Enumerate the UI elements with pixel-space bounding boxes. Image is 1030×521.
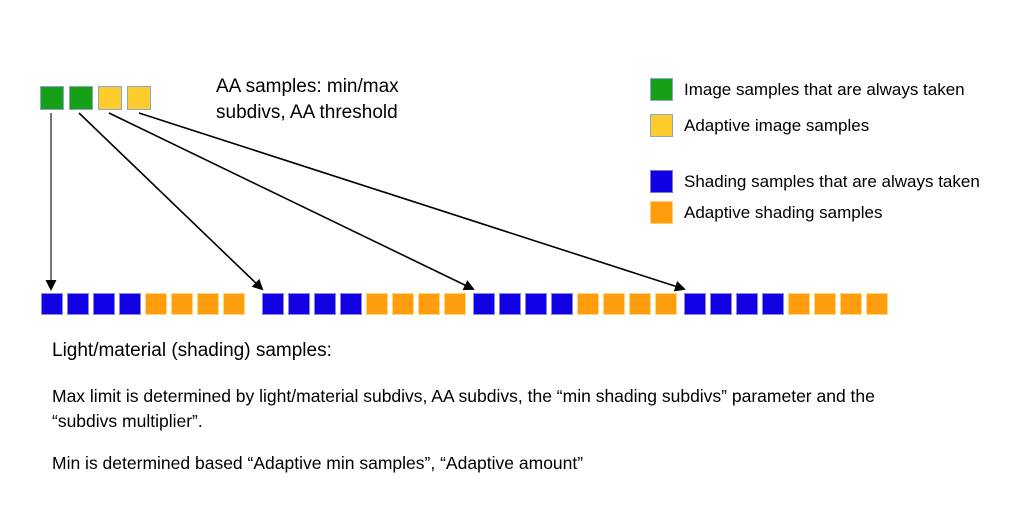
- shading-sample-square: [499, 293, 521, 315]
- shading-sample-square: [655, 293, 677, 315]
- image-sample-square-1: [40, 86, 64, 110]
- shading-sample-square: [762, 293, 784, 315]
- legend-label-image-always: Image samples that are always taken: [684, 78, 965, 101]
- legend-swatch-image-adaptive: [650, 114, 673, 137]
- legend-label-shading-always: Shading samples that are always taken: [684, 170, 980, 193]
- shading-sample-square: [710, 293, 732, 315]
- arrow-square2-to-group2: [79, 113, 262, 289]
- shading-sample-square: [145, 293, 167, 315]
- shading-sample-square: [418, 293, 440, 315]
- diagram-canvas: AA samples: min/max subdivs, AA threshol…: [0, 0, 1030, 521]
- image-sample-square-2: [69, 86, 93, 110]
- shading-sample-square: [392, 293, 414, 315]
- shading-sample-square: [866, 293, 888, 315]
- shading-sample-square: [197, 293, 219, 315]
- shading-sample-square: [473, 293, 495, 315]
- arrow-square4-to-group4: [139, 113, 684, 289]
- legend-swatch-shading-always: [650, 170, 673, 193]
- legend-swatch-shading-adaptive: [650, 201, 673, 224]
- shading-sample-square: [736, 293, 758, 315]
- shading-sample-square: [788, 293, 810, 315]
- shading-samples-caption: Light/material (shading) samples:: [52, 338, 332, 364]
- legend-label-shading-adaptive: Adaptive shading samples: [684, 201, 882, 224]
- legend-swatch-image-always: [650, 78, 673, 101]
- shading-sample-square: [262, 293, 284, 315]
- image-sample-square-4: [127, 86, 151, 110]
- shading-sample-square: [840, 293, 862, 315]
- image-sample-square-3: [98, 86, 122, 110]
- shading-sample-square: [223, 293, 245, 315]
- shading-sample-square: [119, 293, 141, 315]
- shading-sample-square: [577, 293, 599, 315]
- legend-label-image-adaptive: Adaptive image samples: [684, 114, 869, 137]
- shading-sample-square: [314, 293, 336, 315]
- max-limit-note: Max limit is determined by light/materia…: [52, 384, 882, 434]
- shading-sample-square: [93, 293, 115, 315]
- shading-sample-square: [171, 293, 193, 315]
- shading-sample-square: [444, 293, 466, 315]
- shading-sample-square: [340, 293, 362, 315]
- shading-sample-square: [629, 293, 651, 315]
- shading-sample-square: [551, 293, 573, 315]
- arrow-square3-to-group3: [109, 113, 473, 289]
- shading-sample-square: [288, 293, 310, 315]
- shading-sample-square: [684, 293, 706, 315]
- shading-sample-square: [67, 293, 89, 315]
- shading-sample-square: [814, 293, 836, 315]
- shading-sample-square: [41, 293, 63, 315]
- shading-sample-square: [525, 293, 547, 315]
- shading-sample-square: [603, 293, 625, 315]
- aa-samples-caption: AA samples: min/max subdivs, AA threshol…: [216, 74, 399, 126]
- min-limit-note: Min is determined based “Adaptive min sa…: [52, 451, 882, 476]
- shading-sample-square: [366, 293, 388, 315]
